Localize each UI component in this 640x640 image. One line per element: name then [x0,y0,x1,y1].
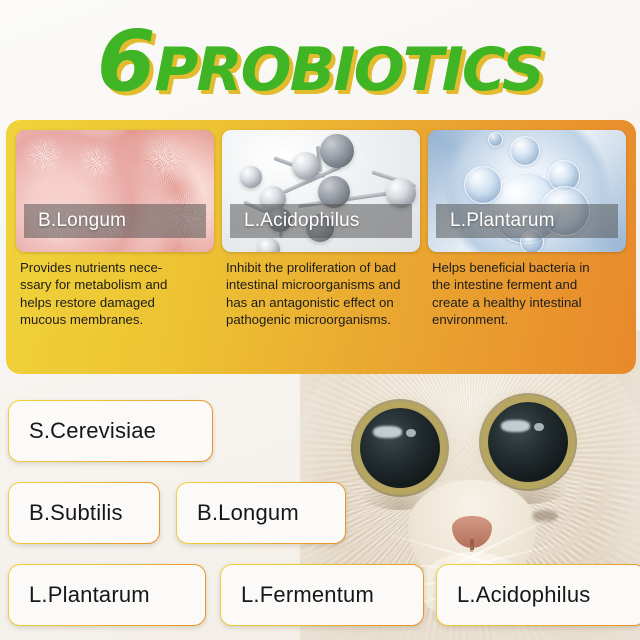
panel-b-longum: B.Longum Provides nutrients nece- ssary … [16,130,214,366]
probiotics-info-card: B.Longum Provides nutrients nece- ssary … [6,120,636,374]
tag-row-3: L.Plantarum L.Fermentum L.Acidophilus [0,564,640,626]
tag-label: B.Longum [197,500,299,526]
panel-description-line2: intestinal microorganisms and [222,276,420,293]
panel-label: L.Acidophilus [230,204,412,238]
poster-root: 6PROBIOTICS B.Longum Provides nutrients … [0,0,640,640]
tag-b-subtilis[interactable]: B.Subtilis [8,482,160,544]
title-number: 6 [97,19,154,103]
molecule-structure-photo: L.Acidophilus [222,130,420,252]
panel-l-acidophilus: L.Acidophilus Inhibit the proliferation … [222,130,420,366]
tag-label: L.Fermentum [241,582,374,608]
page-title: 6PROBIOTICS [0,8,640,113]
tag-l-acidophilus[interactable]: L.Acidophilus [436,564,640,626]
tag-b-longum[interactable]: B.Longum [176,482,346,544]
panel-description: Provides nutrients nece- [16,259,214,276]
tag-l-fermentum[interactable]: L.Fermentum [220,564,424,626]
panel-description-line2: ssary for metabolism and [16,276,214,293]
tag-s-cerevisiae[interactable]: S.Cerevisiae [8,400,213,462]
blue-bubbles-photo: L.Plantarum [428,130,626,252]
panel-description-line4: mucous membranes. [16,311,214,328]
panel-description-line3: helps restore damaged [16,294,214,311]
pink-cells-photo: B.Longum [16,130,214,252]
tag-label: B.Subtilis [29,500,123,526]
tag-label: S.Cerevisiae [29,418,156,444]
panel-description: Inhibit the proliferation of bad [222,259,420,276]
panel-l-plantarum: L.Plantarum Helps beneficial bacteria in… [428,130,626,366]
tag-label: L.Plantarum [29,582,150,608]
panel-description: Helps beneficial bacteria in [428,259,626,276]
panel-label: B.Longum [24,204,206,238]
panel-label: L.Plantarum [436,204,618,238]
panel-description-line4: pathogenic microorganisms. [222,311,420,328]
panel-description-line2: the intestine ferment and [428,276,626,293]
panel-description-line4: environment. [428,311,626,328]
title-word: PROBIOTICS [154,40,543,100]
panel-description-line3: has an antagonistic effect on [222,294,420,311]
tag-label: L.Acidophilus [457,582,590,608]
panel-description-line3: create a healthy intestinal [428,294,626,311]
tag-row-2: B.Subtilis B.Longum [0,482,640,544]
tag-row-1: S.Cerevisiae [0,400,640,462]
tag-l-plantarum[interactable]: L.Plantarum [8,564,206,626]
